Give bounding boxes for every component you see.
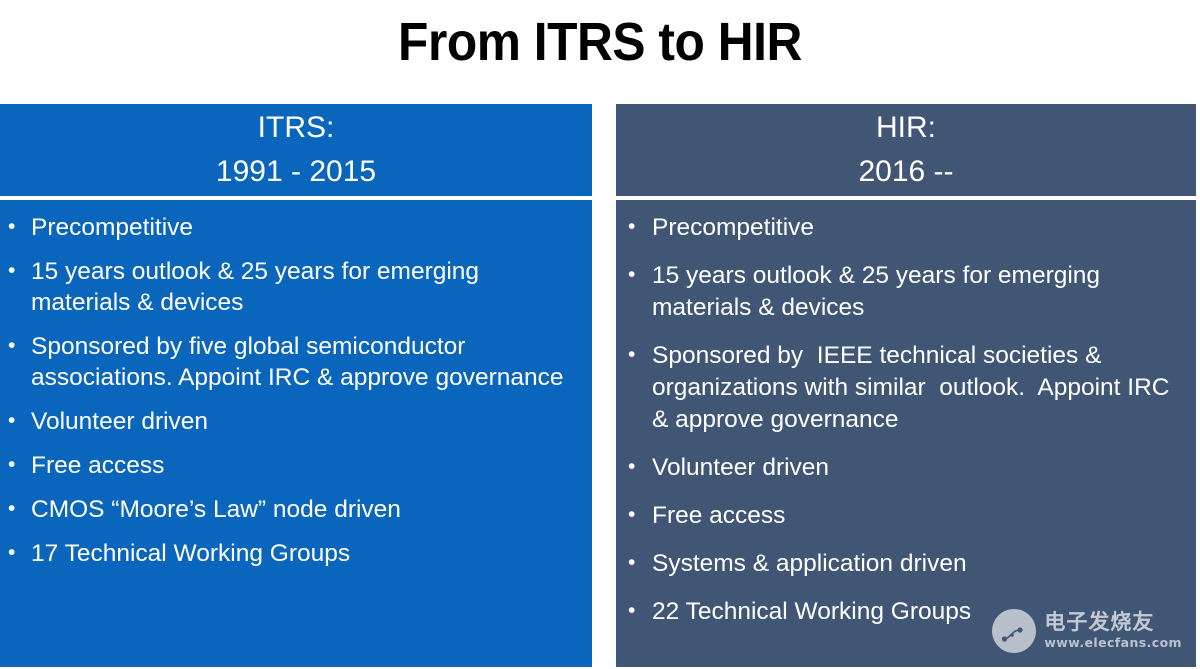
- column-hir-body: Precompetitive 15 years outlook & 25 yea…: [616, 200, 1196, 667]
- column-itrs: ITRS: 1991 - 2015 Precompetitive 15 year…: [0, 104, 592, 667]
- column-itrs-header-line1: ITRS:: [258, 106, 335, 150]
- comparison-columns: ITRS: 1991 - 2015 Precompetitive 15 year…: [0, 0, 1200, 669]
- list-item: CMOS “Moore’s Law” node driven: [8, 494, 578, 525]
- list-item: Sponsored by IEEE technical societies & …: [628, 340, 1178, 436]
- list-item: Systems & application driven: [628, 548, 1178, 580]
- column-itrs-header-line2: 1991 - 2015: [216, 150, 376, 194]
- list-item: Free access: [628, 500, 1178, 532]
- list-item: 22 Technical Working Groups: [628, 596, 1178, 628]
- list-item: 15 years outlook & 25 years for emerging…: [8, 256, 578, 318]
- column-itrs-bullet-list: Precompetitive 15 years outlook & 25 yea…: [8, 212, 578, 569]
- list-item: 17 Technical Working Groups: [8, 538, 578, 569]
- list-item: Sponsored by five global semiconductor a…: [8, 331, 578, 393]
- column-itrs-body: Precompetitive 15 years outlook & 25 yea…: [0, 200, 592, 667]
- column-hir-header: HIR: 2016 --: [616, 104, 1196, 196]
- list-item: 15 years outlook & 25 years for emerging…: [628, 260, 1178, 324]
- column-hir-header-line1: HIR:: [876, 106, 936, 150]
- list-item: Free access: [8, 450, 578, 481]
- list-item: Precompetitive: [8, 212, 578, 243]
- watermark-url-label: www.elecfans.com: [1044, 637, 1182, 650]
- column-hir: HIR: 2016 -- Precompetitive 15 years out…: [616, 104, 1196, 667]
- column-itrs-header: ITRS: 1991 - 2015: [0, 104, 592, 196]
- column-hir-header-line2: 2016 --: [858, 150, 953, 194]
- column-hir-bullet-list: Precompetitive 15 years outlook & 25 yea…: [628, 212, 1178, 628]
- list-item: Precompetitive: [628, 212, 1178, 244]
- list-item: Volunteer driven: [8, 406, 578, 437]
- list-item: Volunteer driven: [628, 452, 1178, 484]
